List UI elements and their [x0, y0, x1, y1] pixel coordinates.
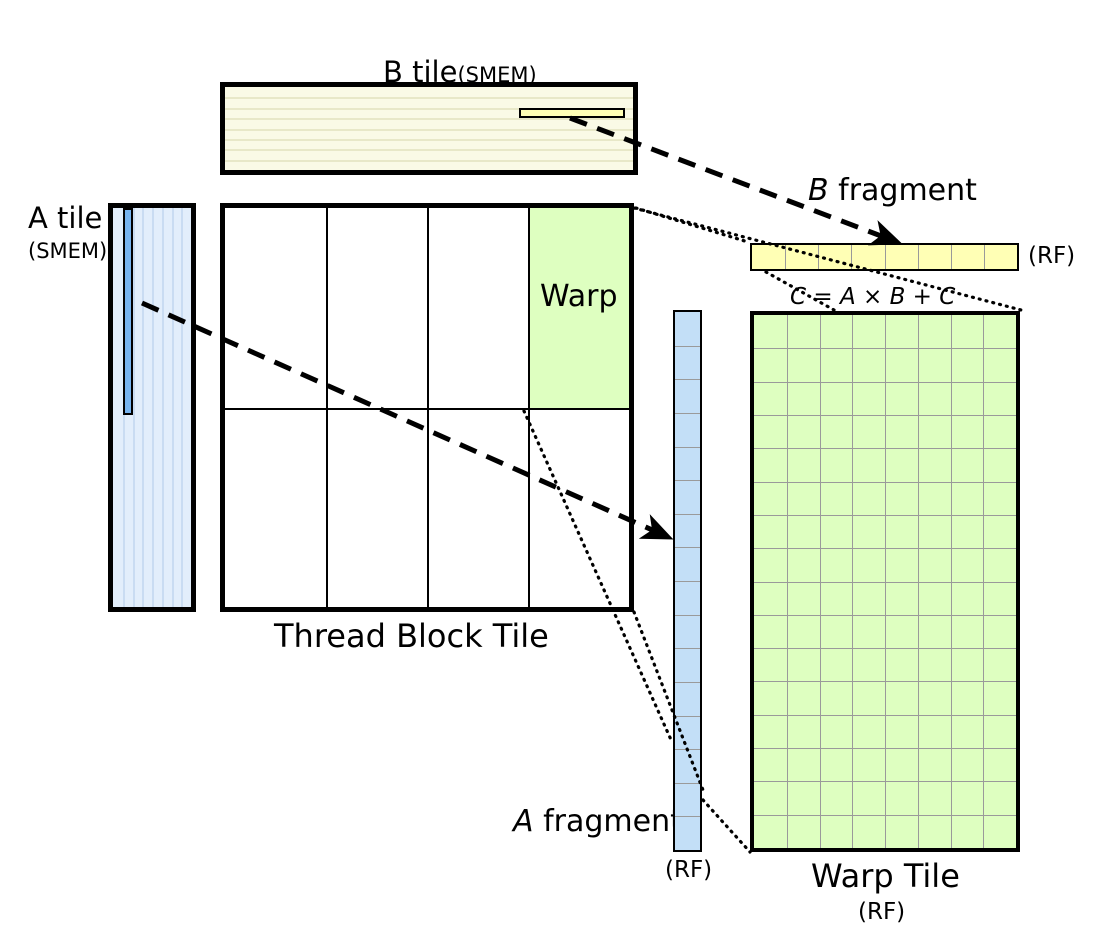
- grid-line-h: [675, 749, 700, 750]
- a-fragment-cells: [675, 312, 700, 850]
- a-tile-highlight-col: [123, 208, 133, 415]
- grid-line-h: [675, 783, 700, 784]
- grid-line-h: [675, 346, 700, 347]
- a-tile-label-sub: (SMEM): [28, 239, 107, 263]
- a-fragment-rf-label: (RF): [665, 858, 712, 882]
- grid-line-h: [225, 408, 629, 410]
- grid-line-v: [951, 245, 952, 269]
- diagram-canvas: B tile(SMEM) A tile (SMEM) Thread Block …: [0, 0, 1101, 937]
- equation-label: C = A × B + C: [790, 285, 955, 309]
- grid-line-h: [754, 382, 1016, 383]
- grid-line-h: [675, 648, 700, 649]
- grid-line-v: [162, 208, 164, 607]
- a-tile-label-sub-wrap: (SMEM): [28, 240, 107, 262]
- a-fragment-label-symbol: A: [513, 804, 534, 839]
- grid-line-h: [754, 648, 1016, 649]
- warp-to-b-fragment-guide: [636, 208, 748, 242]
- grid-line-h: [754, 482, 1016, 483]
- grid-line-v: [172, 208, 174, 607]
- a-fragment-rf: [673, 310, 702, 852]
- b-fragment-label: B fragment: [808, 175, 977, 207]
- grid-line-v: [133, 208, 135, 607]
- grid-line-v: [785, 245, 786, 269]
- warp-tile-rf-label: (RF): [858, 900, 905, 924]
- warp-tile-caption: Warp Tile: [811, 860, 960, 894]
- grid-line-h: [675, 480, 700, 481]
- grid-line-h: [754, 582, 1016, 583]
- grid-line-v: [142, 208, 144, 607]
- grid-line-h: [675, 581, 700, 582]
- warp-tile-grid: [754, 315, 1016, 848]
- grid-line-h: [675, 379, 700, 380]
- grid-line-h: [225, 149, 633, 151]
- grid-line-h: [754, 681, 1016, 682]
- a-tile-label-main-wrap: A tile: [28, 203, 102, 233]
- thread-block-grid-lines: [225, 208, 629, 607]
- grid-line-h: [225, 129, 633, 131]
- grid-line-h: [225, 139, 633, 141]
- grid-line-h: [675, 514, 700, 515]
- grid-line-h: [675, 682, 700, 683]
- grid-line-h: [675, 547, 700, 548]
- grid-line-h: [754, 415, 1016, 416]
- grid-line-h: [225, 160, 633, 162]
- b-tile-smem: [220, 82, 638, 175]
- a-tile-label-main: A tile: [28, 201, 102, 235]
- b-tile-highlight-row: [519, 108, 625, 118]
- grid-line-v: [885, 245, 886, 269]
- b-fragment-label-symbol: B: [808, 173, 829, 208]
- grid-line-h: [675, 615, 700, 616]
- grid-line-h: [675, 816, 700, 817]
- a-fragment-label-rest: fragment: [534, 804, 682, 839]
- grid-line-v: [818, 245, 819, 269]
- grid-line-h: [754, 448, 1016, 449]
- warp-tile-rf: [750, 311, 1020, 852]
- grid-line-h: [754, 615, 1016, 616]
- grid-line-v: [152, 208, 154, 607]
- b-tile-stripes: [225, 87, 633, 170]
- b-fragment-label-rest: fragment: [829, 173, 977, 208]
- grid-line-h: [754, 781, 1016, 782]
- grid-line-h: [754, 348, 1016, 349]
- grid-line-h: [225, 118, 633, 120]
- grid-line-h: [675, 413, 700, 414]
- thread-block-tile-caption: Thread Block Tile: [274, 620, 549, 654]
- a-tile-smem: [108, 203, 196, 612]
- grid-line-h: [754, 715, 1016, 716]
- a-fragment-to-warp-tile-guide: [703, 800, 750, 852]
- b-fragment-rf-label: (RF): [1028, 244, 1075, 268]
- grid-line-v: [918, 245, 919, 269]
- grid-line-h: [754, 548, 1016, 549]
- grid-line-v: [181, 208, 183, 607]
- grid-line-h: [754, 515, 1016, 516]
- grid-line-h: [754, 748, 1016, 749]
- grid-line-v: [851, 245, 852, 269]
- grid-line-h: [225, 97, 633, 99]
- thread-block-tile: [220, 203, 634, 612]
- grid-line-h: [675, 447, 700, 448]
- a-fragment-label: A fragment: [513, 806, 682, 838]
- grid-line-h: [754, 815, 1016, 816]
- b-fragment-rf: [750, 243, 1019, 271]
- b-fragment-cells: [752, 245, 1017, 269]
- grid-line-h: [675, 716, 700, 717]
- grid-line-v: [984, 245, 985, 269]
- warp-cell-label: Warp: [540, 281, 618, 313]
